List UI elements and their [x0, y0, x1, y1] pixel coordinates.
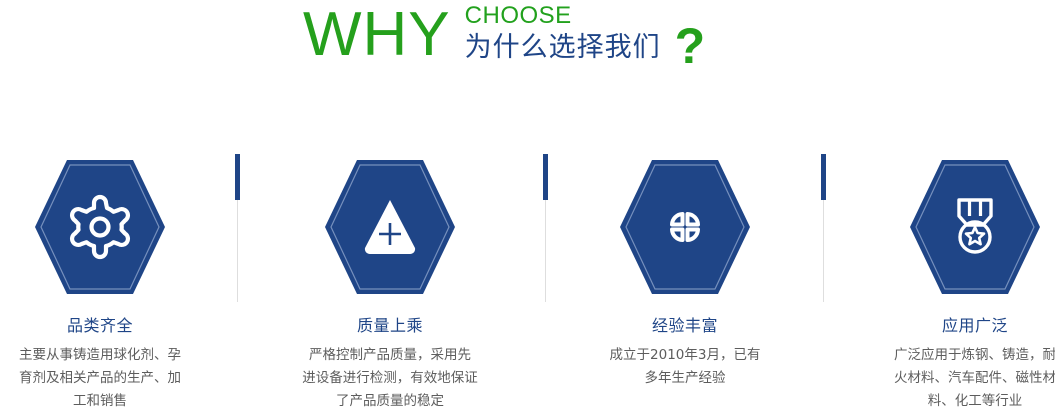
divider-blue-segment	[543, 154, 548, 200]
hexagon-shape	[620, 152, 750, 302]
feature-desc-line: 成立于2010年3月，已有	[570, 344, 800, 367]
headline-middle-block: CHOOSE 为什么选择我们	[465, 0, 661, 64]
headline-why: WHY	[303, 0, 451, 70]
feature-title: 品类齐全	[67, 316, 133, 336]
feature-desc-line: 广泛应用于炼钢、铸造，耐	[860, 344, 1055, 367]
column-divider-1	[235, 140, 240, 302]
feature-column-1[interactable]: 品类齐全 主要从事铸造用球化剂、孕 育剂及相关产品的生产、加 工和销售	[0, 140, 225, 413]
feature-desc-line: 了产品质量的稳定	[275, 390, 505, 413]
hexagon-badge	[910, 152, 1040, 302]
feature-description: 广泛应用于炼钢、铸造，耐 火材料、汽车配件、磁性材 料、化工等行业	[860, 344, 1055, 413]
divider-blue-segment	[235, 154, 240, 200]
feature-description: 成立于2010年3月，已有 多年生产经验	[570, 344, 800, 390]
divider-grey-segment	[545, 200, 546, 302]
hexagon-shape	[910, 152, 1040, 302]
divider-blue-segment	[821, 154, 826, 200]
feature-column-3[interactable]: 经验丰富 成立于2010年3月，已有 多年生产经验	[560, 140, 810, 390]
header-inner: WHY CHOOSE 为什么选择我们 ?	[303, 0, 705, 74]
divider-grey-segment	[237, 200, 238, 302]
feature-desc-line: 工和销售	[0, 390, 215, 413]
section-header: WHY CHOOSE 为什么选择我们 ?	[0, 0, 1055, 95]
headline-choose: CHOOSE	[465, 2, 661, 29]
feature-title: 应用广泛	[942, 316, 1008, 336]
feature-column-4[interactable]: 应用广泛 广泛应用于炼钢、铸造，耐 火材料、汽车配件、磁性材 料、化工等行业	[850, 140, 1055, 413]
divider-grey-segment	[823, 200, 824, 302]
question-mark-icon: ?	[675, 0, 706, 74]
headline-chinese: 为什么选择我们	[465, 31, 661, 64]
hexagon-badge	[35, 152, 165, 302]
column-divider-2	[543, 140, 548, 302]
hexagon-shape	[325, 152, 455, 302]
hexagon-shape	[35, 152, 165, 302]
hexagon-badge	[325, 152, 455, 302]
feature-desc-line: 进设备进行检测，有效地保证	[275, 367, 505, 390]
hexagon-badge	[620, 152, 750, 302]
feature-column-2[interactable]: 质量上乘 严格控制产品质量，采用先 进设备进行检测，有效地保证 了产品质量的稳定	[265, 140, 515, 413]
feature-desc-line: 主要从事铸造用球化剂、孕	[0, 344, 215, 367]
feature-title: 质量上乘	[357, 316, 423, 336]
feature-title: 经验丰富	[652, 316, 718, 336]
why-choose-us-section: WHY CHOOSE 为什么选择我们 ?	[0, 0, 1055, 416]
feature-desc-line: 严格控制产品质量，采用先	[275, 344, 505, 367]
feature-desc-line: 育剂及相关产品的生产、加	[0, 367, 215, 390]
feature-description: 主要从事铸造用球化剂、孕 育剂及相关产品的生产、加 工和销售	[0, 344, 215, 413]
feature-columns: 品类齐全 主要从事铸造用球化剂、孕 育剂及相关产品的生产、加 工和销售 质量	[0, 140, 1055, 416]
feature-desc-line: 火材料、汽车配件、磁性材	[860, 367, 1055, 390]
feature-desc-line: 多年生产经验	[570, 367, 800, 390]
feature-description: 严格控制产品质量，采用先 进设备进行检测，有效地保证 了产品质量的稳定	[275, 344, 505, 413]
column-divider-3	[821, 140, 826, 302]
feature-desc-line: 料、化工等行业	[860, 390, 1055, 413]
